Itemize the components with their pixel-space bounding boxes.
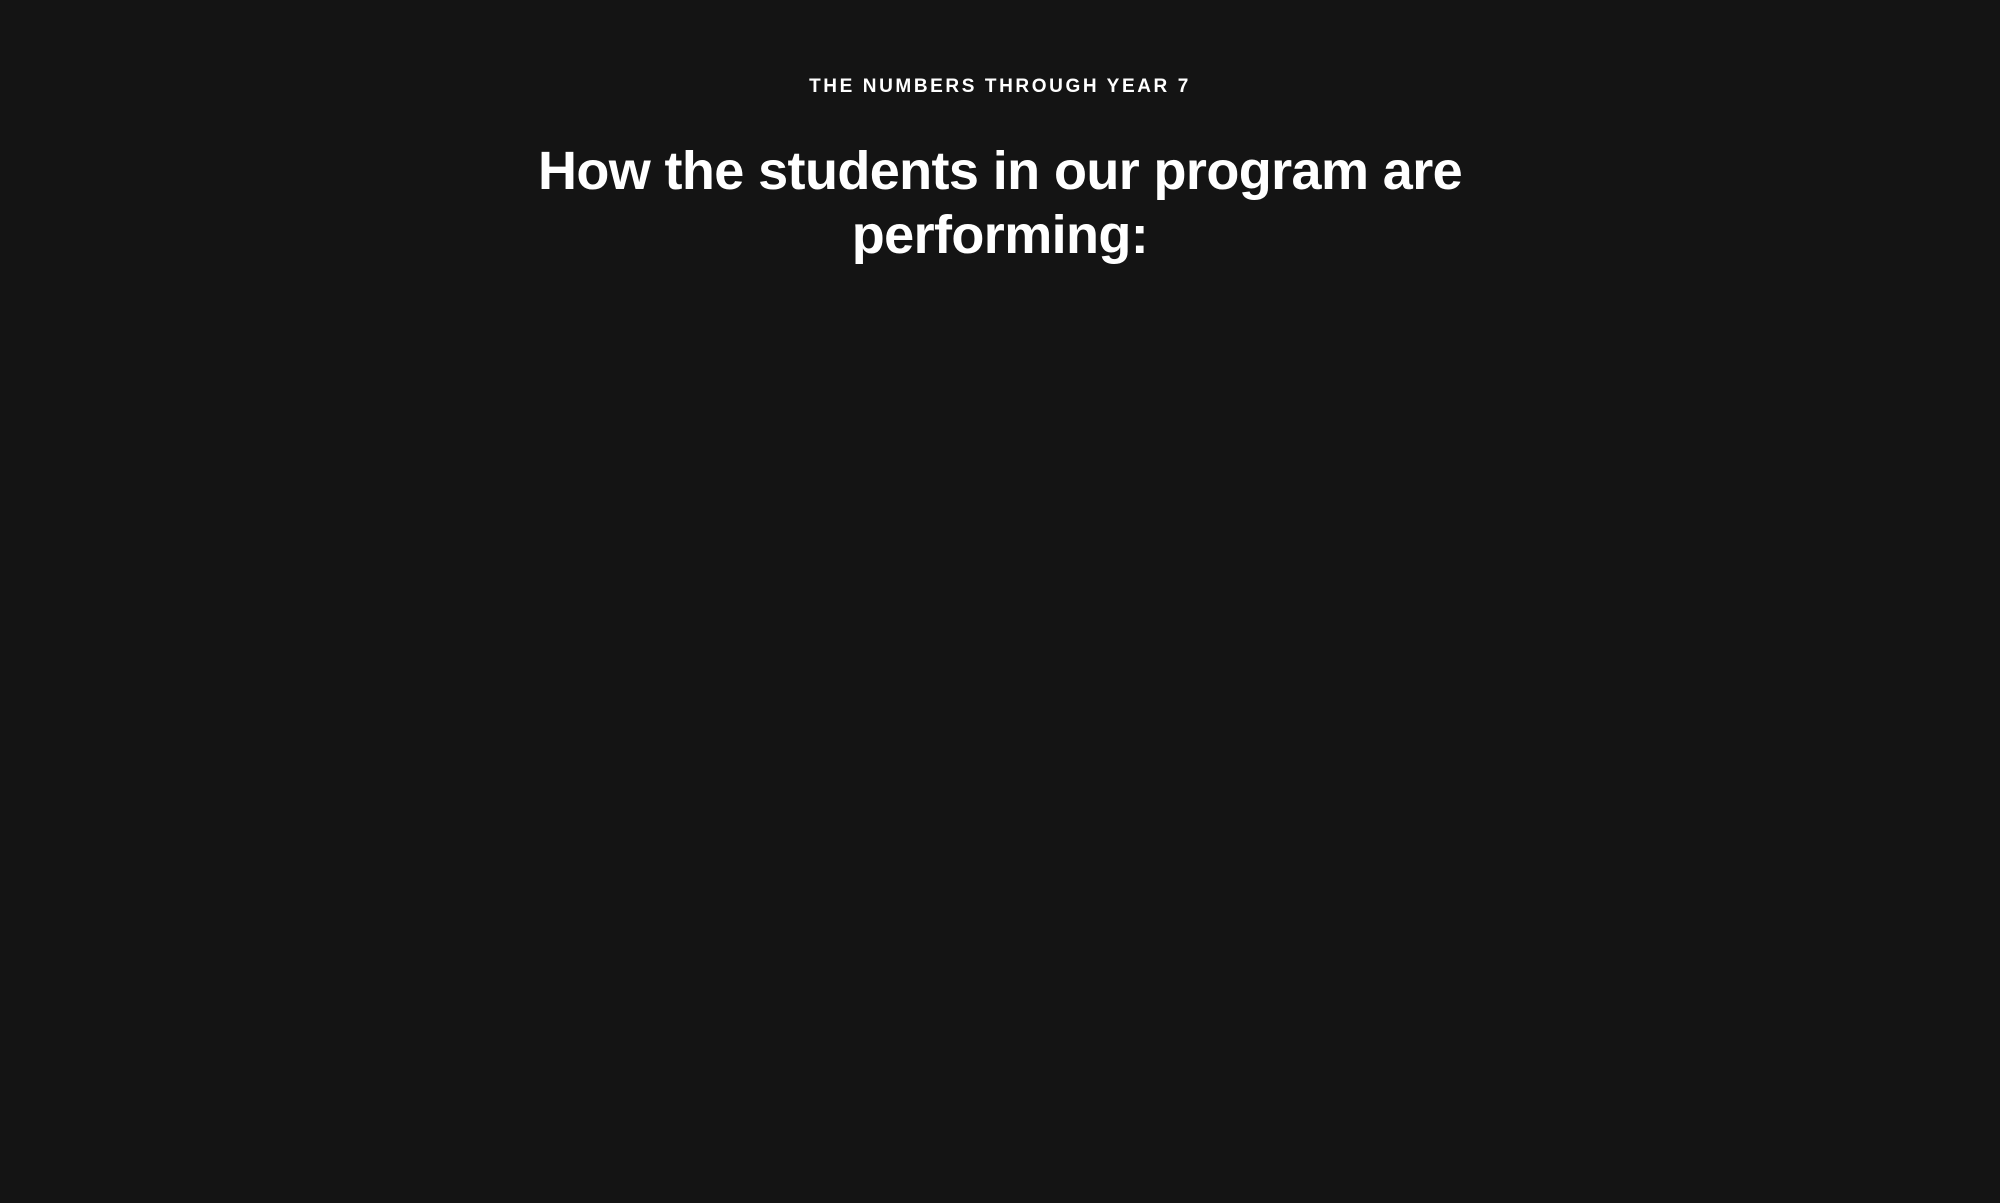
slide-root: THE NUMBERS THROUGH YEAR 7 How the stude… xyxy=(0,0,2000,1203)
bar-chart: GPA: +.34 Higher than non-FATE students … xyxy=(0,0,2000,1203)
